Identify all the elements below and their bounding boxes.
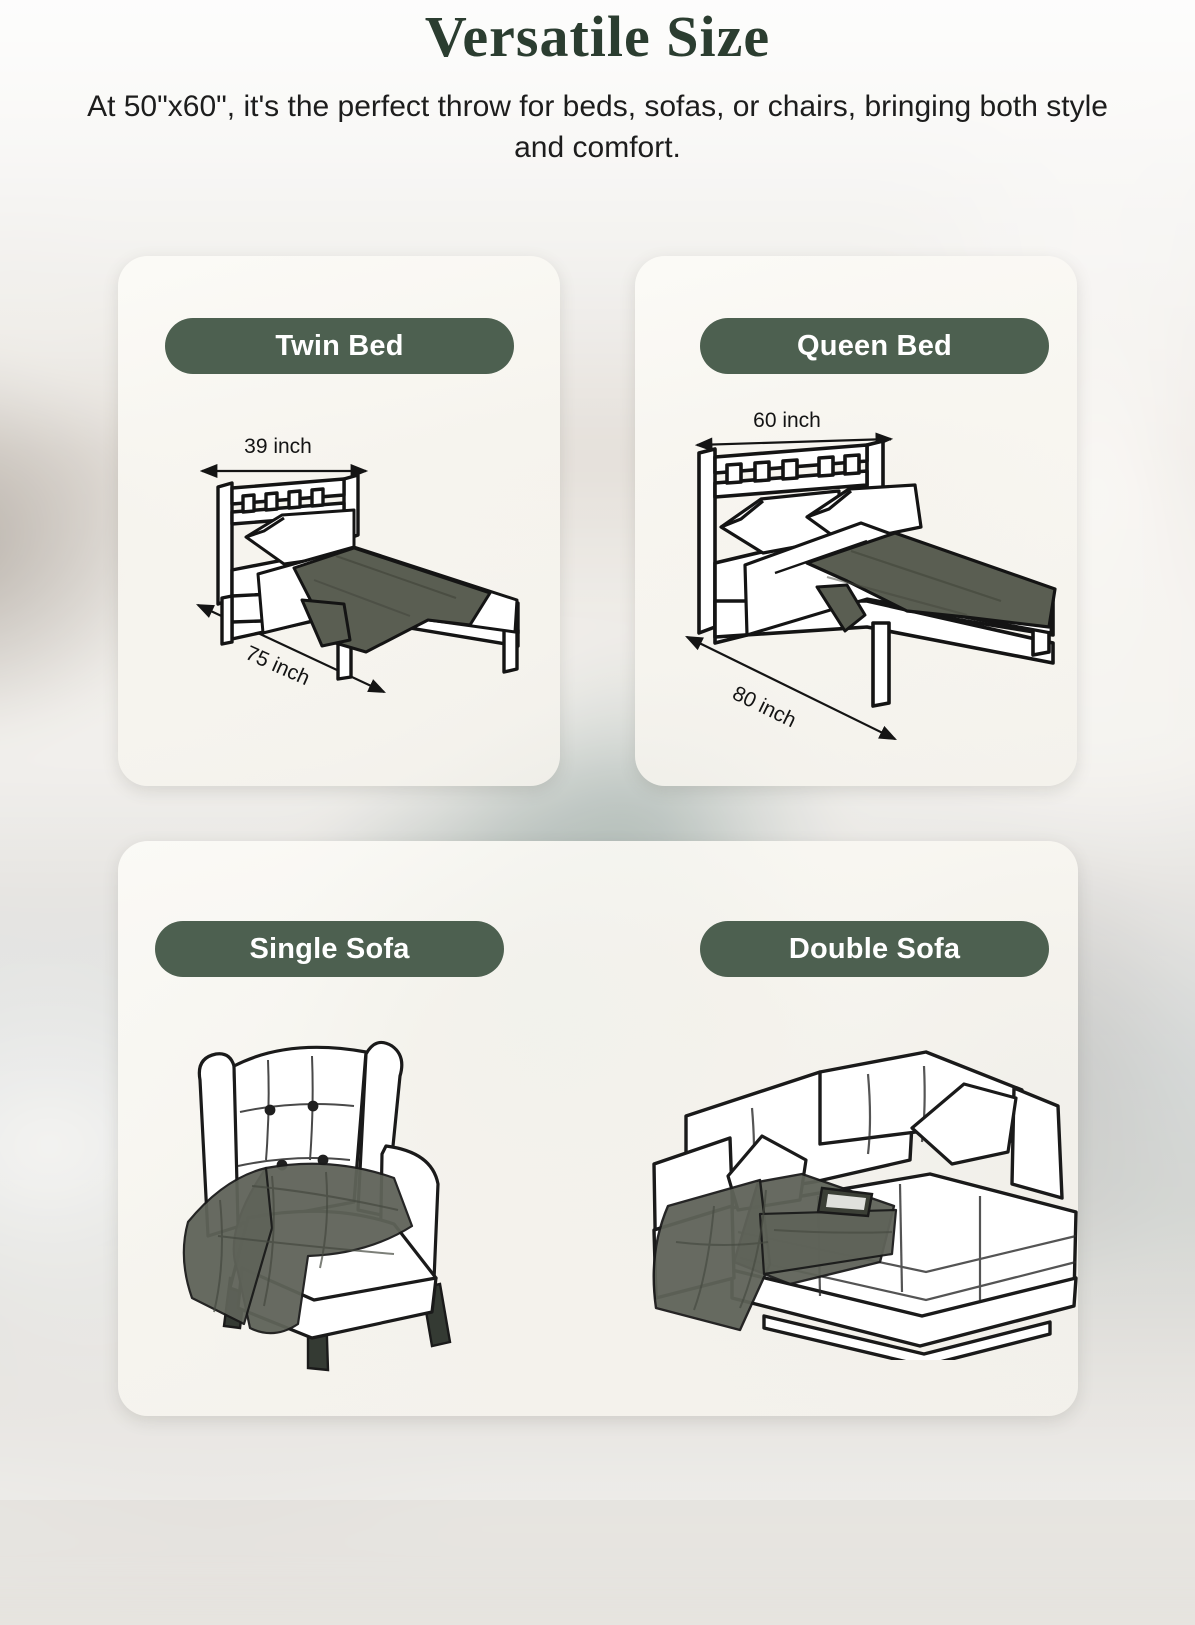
badge-single-sofa: Single Sofa [155, 921, 504, 977]
dimension-label-twin-length: 75 inch [242, 642, 313, 691]
page-subtitle: At 50"x60", it's the perfect throw for b… [83, 66, 1113, 169]
dimension-label-twin-width: 39 inch [244, 435, 312, 458]
illustration-twin-bed: 39 inch 75 inch [186, 430, 546, 720]
dimension-label-queen-length: 80 inch [729, 682, 800, 732]
infographic-page: Versatile Size At 50"x60", it's the perf… [0, 0, 1195, 1500]
badge-double-sofa-label: Double Sofa [789, 933, 960, 966]
badge-twin-bed-label: Twin Bed [275, 330, 403, 363]
illustration-double-sofa [640, 1030, 1110, 1360]
illustration-queen-bed: 60 inch 80 inch [665, 405, 1080, 765]
badge-queen-bed-label: Queen Bed [797, 330, 952, 363]
badge-single-sofa-label: Single Sofa [249, 933, 409, 966]
page-title: Versatile Size [0, 0, 1195, 66]
badge-twin-bed: Twin Bed [165, 318, 514, 374]
badge-double-sofa: Double Sofa [700, 921, 1049, 977]
badge-queen-bed: Queen Bed [700, 318, 1049, 374]
illustration-single-sofa [160, 1020, 490, 1380]
header: Versatile Size At 50"x60", it's the perf… [0, 0, 1195, 169]
dimension-label-queen-width: 60 inch [753, 409, 821, 432]
